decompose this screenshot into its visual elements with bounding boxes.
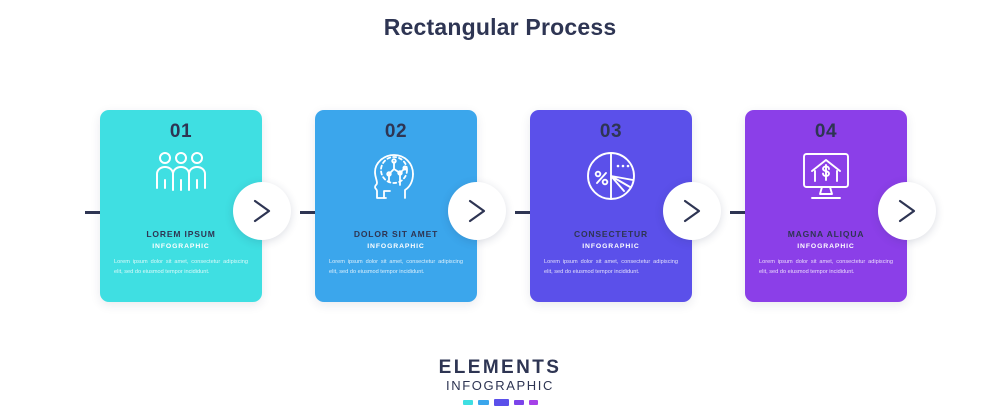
step-number-4: 04: [745, 121, 907, 143]
chevron-right-icon: [251, 198, 273, 224]
step-subheading-4: INFOGRAPHIC: [745, 243, 907, 250]
footer-elements-text: ELEMENTS: [0, 358, 1000, 377]
step-subheading-3: INFOGRAPHIC: [530, 243, 692, 250]
step-subheading-1: INFOGRAPHIC: [100, 243, 262, 250]
footer-dash-row: [0, 399, 1000, 406]
step-subheading-2: INFOGRAPHIC: [315, 243, 477, 250]
process-track: 01 LOREM IPSUM INFOGRAPHIC Lorem ipsum d…: [0, 110, 1000, 305]
step-body-3: Lorem ipsum dolor sit amet, consectetur …: [544, 257, 678, 278]
step-body-4: Lorem ipsum dolor sit amet, consectetur …: [759, 257, 893, 278]
footer-dash: [529, 400, 538, 405]
footer-dash: [494, 399, 509, 406]
arrow-button-2[interactable]: [448, 182, 506, 240]
step-body-1: Lorem ipsum dolor sit amet, consectetur …: [114, 257, 248, 278]
chevron-right-icon: [896, 198, 918, 224]
step-heading-2: DOLOR SIT AMET: [315, 229, 477, 239]
step-number-3: 03: [530, 121, 692, 143]
step-body-2: Lorem ipsum dolor sit amet, consectetur …: [329, 257, 463, 278]
step-heading-3: CONSECTETUR: [530, 229, 692, 239]
footer-logo: ELEMENTS INFOGRAPHIC: [0, 358, 1000, 406]
chevron-right-icon: [681, 198, 703, 224]
step-number-2: 02: [315, 121, 477, 143]
footer-dash: [478, 400, 489, 405]
step-heading-1: LOREM IPSUM: [100, 229, 262, 239]
arrow-button-4[interactable]: [878, 182, 936, 240]
page-title: Rectangular Process: [0, 14, 1000, 41]
arrow-button-1[interactable]: [233, 182, 291, 240]
step-number-1: 01: [100, 121, 262, 143]
group-people-icon: [100, 150, 262, 200]
arrow-button-3[interactable]: [663, 182, 721, 240]
step-heading-4: MAGNA ALIQUA: [745, 229, 907, 239]
chevron-right-icon: [466, 198, 488, 224]
footer-dash: [463, 400, 473, 405]
footer-infographic-text: INFOGRAPHIC: [0, 377, 1000, 395]
footer-dash: [514, 400, 524, 405]
